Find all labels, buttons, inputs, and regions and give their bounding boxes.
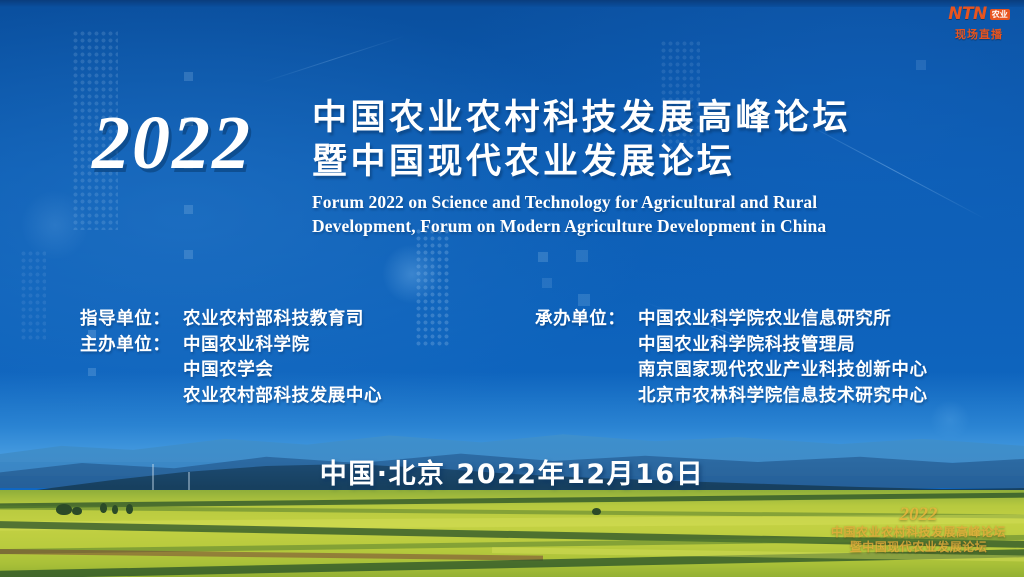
presentation-slide: NTN 农业 现场直播 2022 中国农业农村科技发展高峰论坛 暨中国现代农业发… [0,0,1024,577]
decorative-square [538,252,548,262]
ntn-wordmark: NTN [948,4,987,24]
subtitle-en-line2: Development, Forum on Modern Agriculture… [312,214,972,238]
title-block: 中国农业农村科技发展高峰论坛 暨中国现代农业发展论坛 Forum 2022 on… [312,96,972,238]
watermark-line1: 中国农业农村科技发展高峰论坛 [831,525,1006,540]
tree-cluster [592,508,601,515]
organizer-row: 中国农业科学院科技管理局 [535,333,928,359]
decorative-glow [20,190,90,260]
organizer-value: 农业农村部科技教育司 [183,307,364,333]
watermark-line2: 暨中国现代农业发展论坛 [831,540,1006,555]
decorative-square [916,60,926,70]
tree-cluster [100,503,107,513]
organizer-value: 农业农村部科技发展中心 [183,384,382,410]
decorative-square [542,278,552,288]
broadcaster-logo: NTN 农业 现场直播 [940,4,1018,42]
decorative-square [184,250,193,259]
page-title-line1: 中国农业农村科技发展高峰论坛 [312,96,972,140]
decorative-square [578,294,590,306]
decorative-square [576,250,588,262]
organizer-row: 农业农村部科技发展中心 [80,384,382,410]
venue-date-line: 中国·北京 2022年12月16日 [0,452,1024,491]
organizer-label: 指导单位： [80,307,183,333]
organizers-right-column: 承办单位： 中国农业科学院农业信息研究所 中国农业科学院科技管理局 南京国家现代… [535,307,928,409]
organizer-value: 中国农业科学院农业信息研究所 [638,307,891,333]
organizer-label: 承办单位： [535,307,638,333]
subtitle-en-line1: Forum 2022 on Science and Technology for… [312,190,972,214]
organizer-value: 北京市农林科学院信息技术研究中心 [638,384,928,410]
tree-cluster [72,507,82,515]
page-title-line2: 暨中国现代农业发展论坛 [312,140,972,184]
organizer-row: 指导单位： 农业农村部科技教育司 [80,307,382,333]
organizer-value: 中国农业科学院 [183,333,310,359]
organizer-value: 中国农业科学院科技管理局 [638,333,855,359]
organizer-value: 中国农学会 [183,358,274,384]
organizer-value: 南京国家现代农业产业科技创新中心 [638,358,928,384]
watermark-year: 2022 [831,505,1006,525]
corner-watermark: 2022 中国农业农村科技发展高峰论坛 暨中国现代农业发展论坛 [831,505,1006,555]
organizer-row: 承办单位： 中国农业科学院农业信息研究所 [535,307,928,333]
tech-dot-pattern [20,250,46,340]
decorative-square [184,72,193,81]
top-border-band [0,0,1024,7]
organizer-row: 北京市农林科学院信息技术研究中心 [535,384,928,410]
organizer-row: 中国农学会 [80,358,382,384]
decorative-glow [382,244,442,304]
tree-cluster [126,504,133,514]
logo-top-row: NTN 农业 [940,4,1018,24]
organizer-label: 主办单位： [80,333,183,359]
organizer-row: 南京国家现代农业产业科技创新中心 [535,358,928,384]
live-broadcast-label: 现场直播 [940,26,1018,42]
event-year: 2022 [92,105,252,181]
logo-badge: 农业 [990,9,1010,20]
tree-cluster [112,505,118,514]
decorative-square [184,205,193,214]
tree-cluster [56,504,72,515]
organizers-left-column: 指导单位： 农业农村部科技教育司 主办单位： 中国农业科学院 中国农学会 农业农… [80,307,382,409]
organizer-row: 主办单位： 中国农业科学院 [80,333,382,359]
